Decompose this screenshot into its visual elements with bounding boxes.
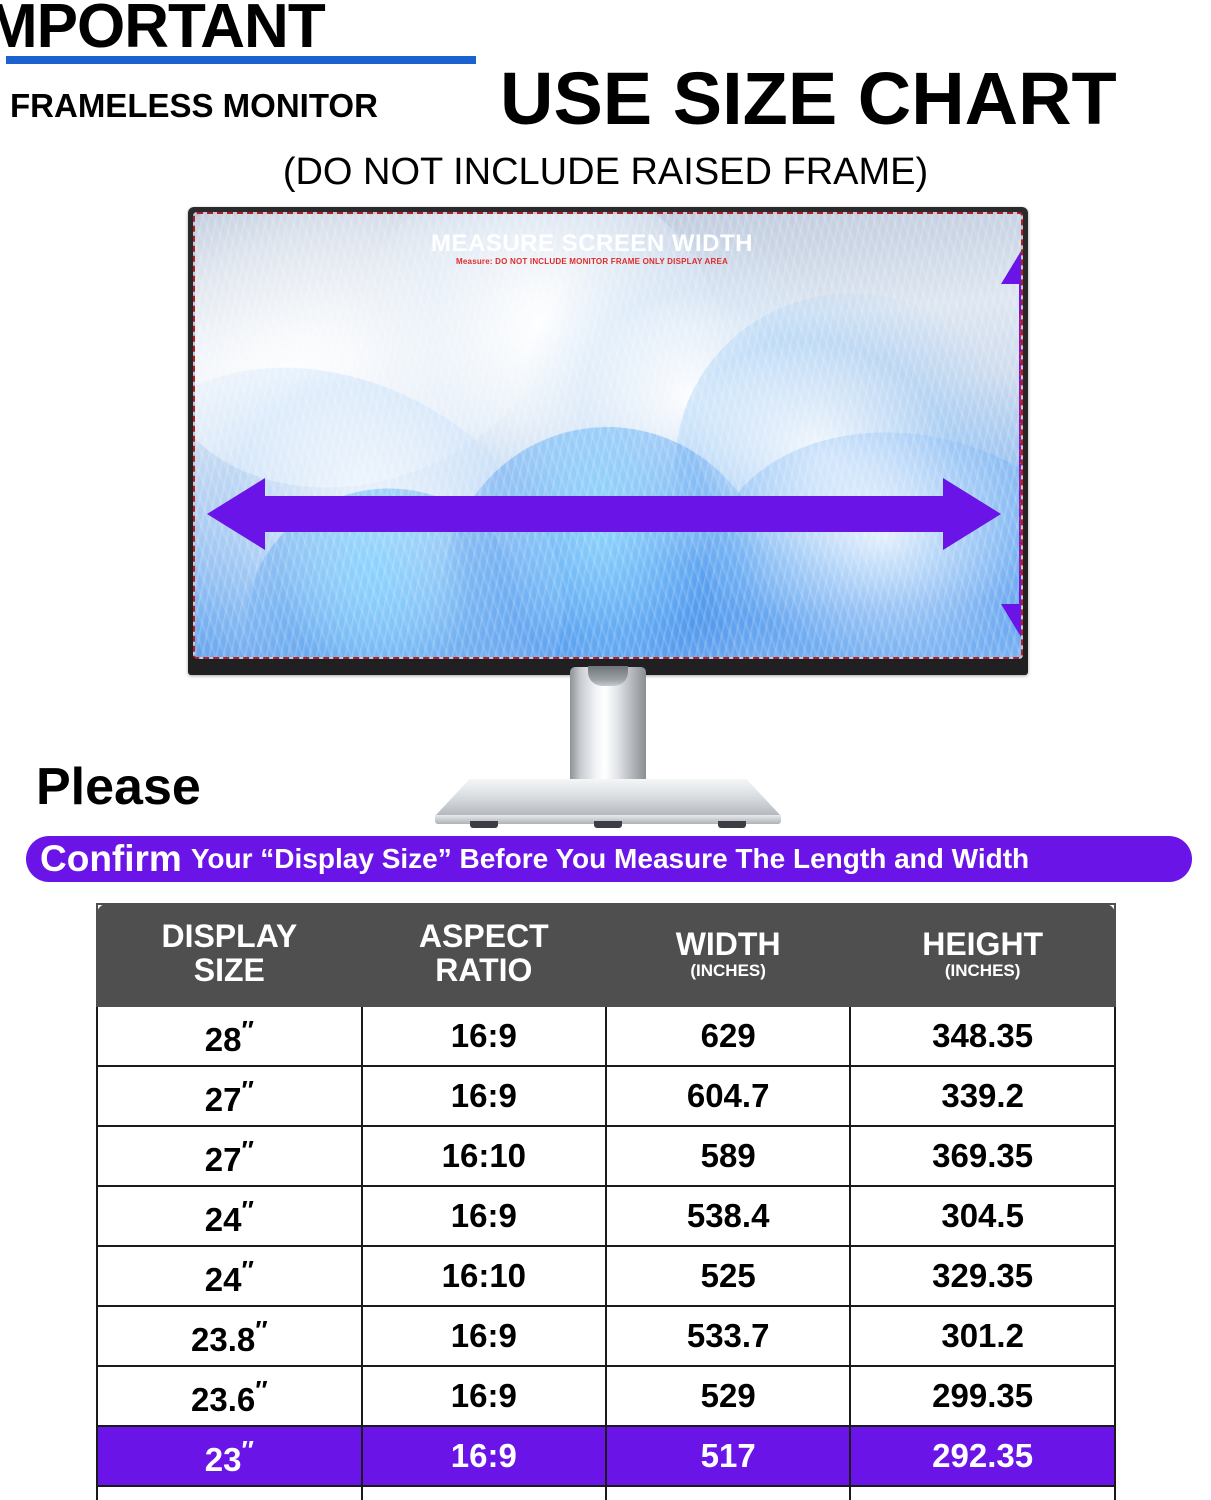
- col1-line2: RATIO: [435, 952, 532, 988]
- cell-height: 292.35: [850, 1426, 1115, 1486]
- cell-height: 348.35: [850, 1006, 1115, 1066]
- table-row: 27″16:9604.7339.2: [97, 1066, 1115, 1126]
- inch-mark: ″: [241, 1015, 253, 1045]
- col2-line1: WIDTH: [676, 926, 781, 962]
- inch-mark: ″: [241, 1135, 253, 1165]
- cell-display-size: 23.6″: [97, 1366, 362, 1426]
- cell-height: 301.2: [850, 1306, 1115, 1366]
- cell-aspect-ratio: 16:9: [362, 1426, 606, 1486]
- cell-display-size: 22″: [97, 1486, 362, 1500]
- cell-aspect-ratio: 16:10: [362, 1486, 606, 1500]
- please-heading: Please: [36, 760, 201, 814]
- cell-display-size: 27″: [97, 1066, 362, 1126]
- measure-width-arrow-icon: [207, 478, 1001, 550]
- cell-height: 299.35: [850, 1366, 1115, 1426]
- cell-aspect-ratio: 16:9: [362, 1006, 606, 1066]
- monitor-bezel: Measure: DO NOT INCLUDE MONITOR FRAME ON…: [188, 207, 1028, 675]
- monitor-stand-notch: [588, 666, 628, 686]
- cell-width: 525: [606, 1246, 850, 1306]
- cell-height: 301.35: [850, 1486, 1115, 1500]
- cell-aspect-ratio: 16:10: [362, 1246, 606, 1306]
- display-size-value: 23: [205, 1441, 242, 1478]
- measure-height-arrow-icon: [1001, 228, 1023, 659]
- column-header-width: WIDTH (INCHES): [606, 904, 850, 1006]
- cell-width: 529: [606, 1366, 850, 1426]
- important-heading: MPORTANT: [0, 0, 325, 58]
- use-size-chart-title: USE SIZE CHART: [500, 62, 1117, 136]
- cell-display-size: 24″: [97, 1186, 362, 1246]
- inch-mark: ″: [241, 1195, 253, 1225]
- table-row: 23.8″16:9533.7301.2: [97, 1306, 1115, 1366]
- cell-display-size: 23.8″: [97, 1306, 362, 1366]
- monitor-stand-foot-left: [470, 821, 498, 828]
- cell-aspect-ratio: 16:9: [362, 1186, 606, 1246]
- cell-width: 604.7: [606, 1066, 850, 1126]
- cell-height: 339.2: [850, 1066, 1115, 1126]
- cell-display-size: 27″: [97, 1126, 362, 1186]
- column-header-display-size: DISPLAY SIZE: [97, 904, 362, 1006]
- table-row: 23″16:9517292.35: [97, 1426, 1115, 1486]
- cell-aspect-ratio: 16:9: [362, 1366, 606, 1426]
- display-size-value: 24: [205, 1201, 242, 1238]
- cell-aspect-ratio: 16:9: [362, 1066, 606, 1126]
- confirm-banner: Confirm Your “Display Size” Before You M…: [26, 836, 1192, 882]
- inch-mark: ″: [241, 1495, 253, 1500]
- display-size-value: 24: [205, 1261, 242, 1298]
- cell-display-size: 24″: [97, 1246, 362, 1306]
- cell-width: 629: [606, 1006, 850, 1066]
- size-chart-table: DISPLAY SIZE ASPECT RATIO WIDTH (INCHES)…: [96, 903, 1116, 1500]
- confirm-banner-text: Your “Display Size” Before You Measure T…: [191, 843, 1029, 875]
- cell-height: 304.5: [850, 1186, 1115, 1246]
- measure-height-label: MEASURE SCREEN HEIGHT: [1022, 278, 1024, 610]
- monitor-stand-foot-center: [594, 821, 622, 828]
- display-size-value: 27: [205, 1081, 242, 1118]
- cell-width: 481: [606, 1486, 850, 1500]
- inch-mark: ″: [241, 1255, 253, 1285]
- cell-display-size: 23″: [97, 1426, 362, 1486]
- column-header-aspect-ratio: ASPECT RATIO: [362, 904, 606, 1006]
- table-row: 28″16:9629348.35: [97, 1006, 1115, 1066]
- cell-display-size: 28″: [97, 1006, 362, 1066]
- display-size-value: 27: [205, 1141, 242, 1178]
- frameless-monitor-label: FRAMELESS MONITOR: [10, 88, 378, 124]
- screen-measure-outline: Measure: DO NOT INCLUDE MONITOR FRAME ON…: [193, 212, 1023, 659]
- display-size-value: 23.6: [191, 1381, 255, 1418]
- cell-width: 538.4: [606, 1186, 850, 1246]
- table-row: 23.6″16:9529299.35: [97, 1366, 1115, 1426]
- monitor-illustration: Measure: DO NOT INCLUDE MONITOR FRAME ON…: [188, 207, 1028, 827]
- monitor-stand-foot-right: [718, 821, 746, 828]
- inch-mark: ″: [241, 1075, 253, 1105]
- col3-line1: HEIGHT: [922, 926, 1043, 962]
- inch-mark: ″: [255, 1375, 267, 1405]
- cell-aspect-ratio: 16:9: [362, 1306, 606, 1366]
- raised-frame-subtitle: (DO NOT INCLUDE RAISED FRAME): [0, 152, 1211, 192]
- table-body: 28″16:9629348.3527″16:9604.7339.227″16:1…: [97, 1006, 1115, 1500]
- table-row: 24″16:9538.4304.5: [97, 1186, 1115, 1246]
- cell-aspect-ratio: 16:10: [362, 1126, 606, 1186]
- cell-height: 369.35: [850, 1126, 1115, 1186]
- col2-unit: (INCHES): [607, 961, 849, 980]
- table-row: 27″16:10589369.35: [97, 1126, 1115, 1186]
- table-row: 24″16:10525329.35: [97, 1246, 1115, 1306]
- table-row: 22″16:10481301.35: [97, 1486, 1115, 1500]
- col3-unit: (INCHES): [851, 961, 1114, 980]
- inch-mark: ″: [241, 1435, 253, 1465]
- column-header-height: HEIGHT (INCHES): [850, 904, 1115, 1006]
- cell-height: 329.35: [850, 1246, 1115, 1306]
- inch-mark: ″: [255, 1315, 267, 1345]
- col0-line2: SIZE: [194, 952, 265, 988]
- monitor-wallpaper: [195, 214, 1021, 657]
- confirm-banner-keyword: Confirm: [40, 838, 182, 880]
- cell-width: 589: [606, 1126, 850, 1186]
- table-header-row: DISPLAY SIZE ASPECT RATIO WIDTH (INCHES)…: [97, 904, 1115, 1006]
- important-underline: [6, 56, 476, 64]
- col1-line1: ASPECT: [419, 918, 549, 954]
- size-chart-page: MPORTANT FRAMELESS MONITOR USE SIZE CHAR…: [0, 0, 1211, 1500]
- display-size-value: 28: [205, 1021, 242, 1058]
- col0-line1: DISPLAY: [161, 918, 297, 954]
- display-size-value: 23.8: [191, 1321, 255, 1358]
- cell-width: 517: [606, 1426, 850, 1486]
- cell-width: 533.7: [606, 1306, 850, 1366]
